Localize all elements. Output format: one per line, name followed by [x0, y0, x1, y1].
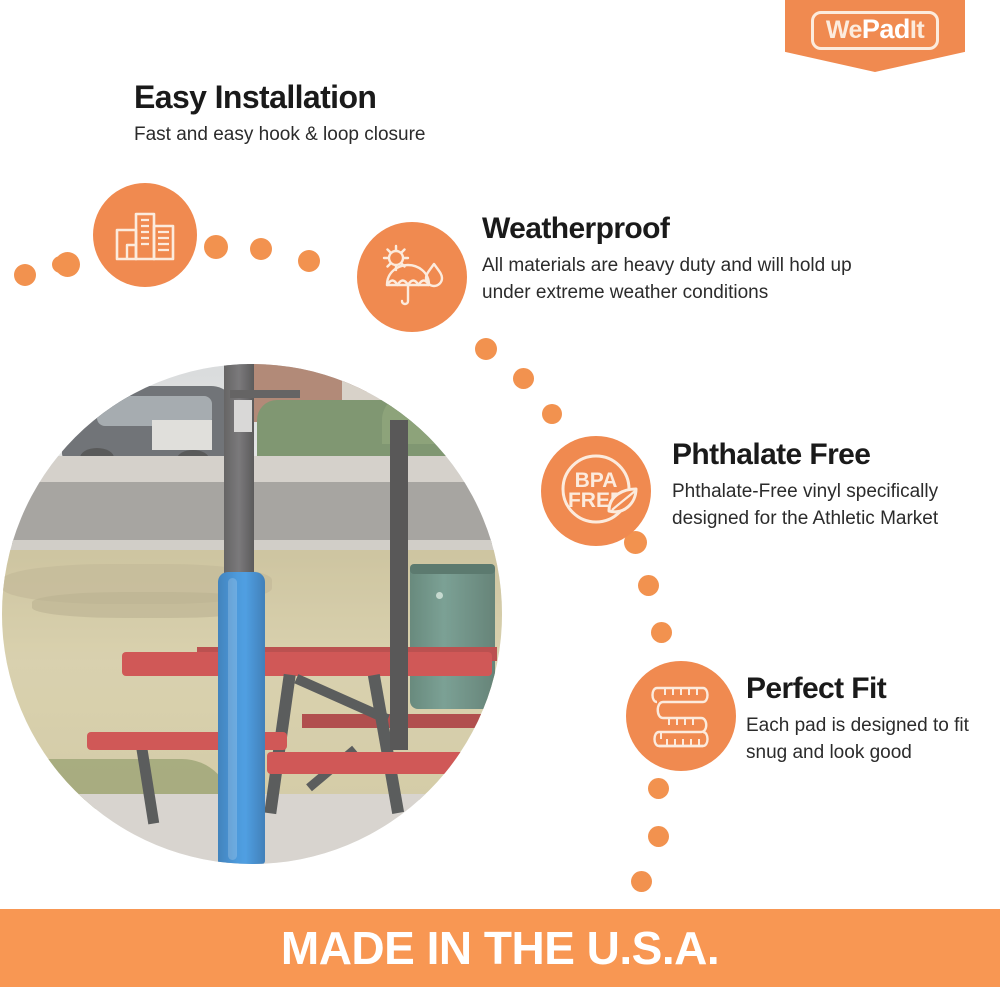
trail-dot: [651, 622, 672, 643]
feature-title: Phthalate Free: [672, 437, 947, 473]
made-in-usa-text: MADE IN THE U.S.A.: [281, 921, 719, 975]
feature-description: Phthalate-Free vinyl specifically design…: [672, 478, 947, 532]
buildings-icon: [93, 183, 197, 287]
tape-measure-icon: [626, 661, 736, 771]
feature-description: Each pad is designed to fit snug and loo…: [746, 712, 976, 766]
feature-title: Weatherproof: [482, 211, 902, 247]
blue-pole-pad-photo: [2, 364, 502, 864]
trail-dot: [204, 235, 228, 259]
trail-dot: [631, 871, 652, 892]
feature-easy-installation: Easy Installation Fast and easy hook & l…: [134, 78, 554, 148]
trail-dot: [648, 826, 669, 847]
feature-description: All materials are heavy duty and will ho…: [482, 252, 902, 306]
trail-dot: [542, 404, 562, 424]
trail-dot: [648, 778, 669, 799]
trail-dot: [298, 250, 320, 272]
logo-text-we: We: [826, 18, 862, 43]
trail-dot: [250, 238, 272, 260]
feature-weatherproof: Weatherproof All materials are heavy dut…: [482, 211, 902, 306]
feature-title: Easy Installation: [134, 78, 554, 116]
logo-text-it: It: [910, 18, 924, 43]
wepadit-logo-badge: We Pad It: [785, 0, 965, 72]
bpa-free-leaf-icon: BPA FREE: [541, 436, 651, 546]
logo-text-frame: We Pad It: [811, 11, 939, 50]
logo-text-pad: Pad: [862, 16, 910, 43]
feature-perfect-fit: Perfect Fit Each pad is designed to fit …: [746, 671, 976, 766]
made-in-usa-banner: MADE IN THE U.S.A.: [0, 909, 1000, 987]
trail-dot: [14, 264, 36, 286]
trail-dot: [55, 252, 80, 277]
trail-dot: [638, 575, 659, 596]
feature-phthalate-free: Phthalate Free Phthalate-Free vinyl spec…: [672, 437, 947, 532]
feature-description: Fast and easy hook & loop closure: [134, 122, 554, 148]
trail-dot: [513, 368, 534, 389]
umbrella-sun-rain-icon: [357, 222, 467, 332]
infographic-canvas: We Pad It: [0, 0, 1000, 987]
trail-dot: [475, 338, 497, 360]
feature-title: Perfect Fit: [746, 671, 976, 707]
